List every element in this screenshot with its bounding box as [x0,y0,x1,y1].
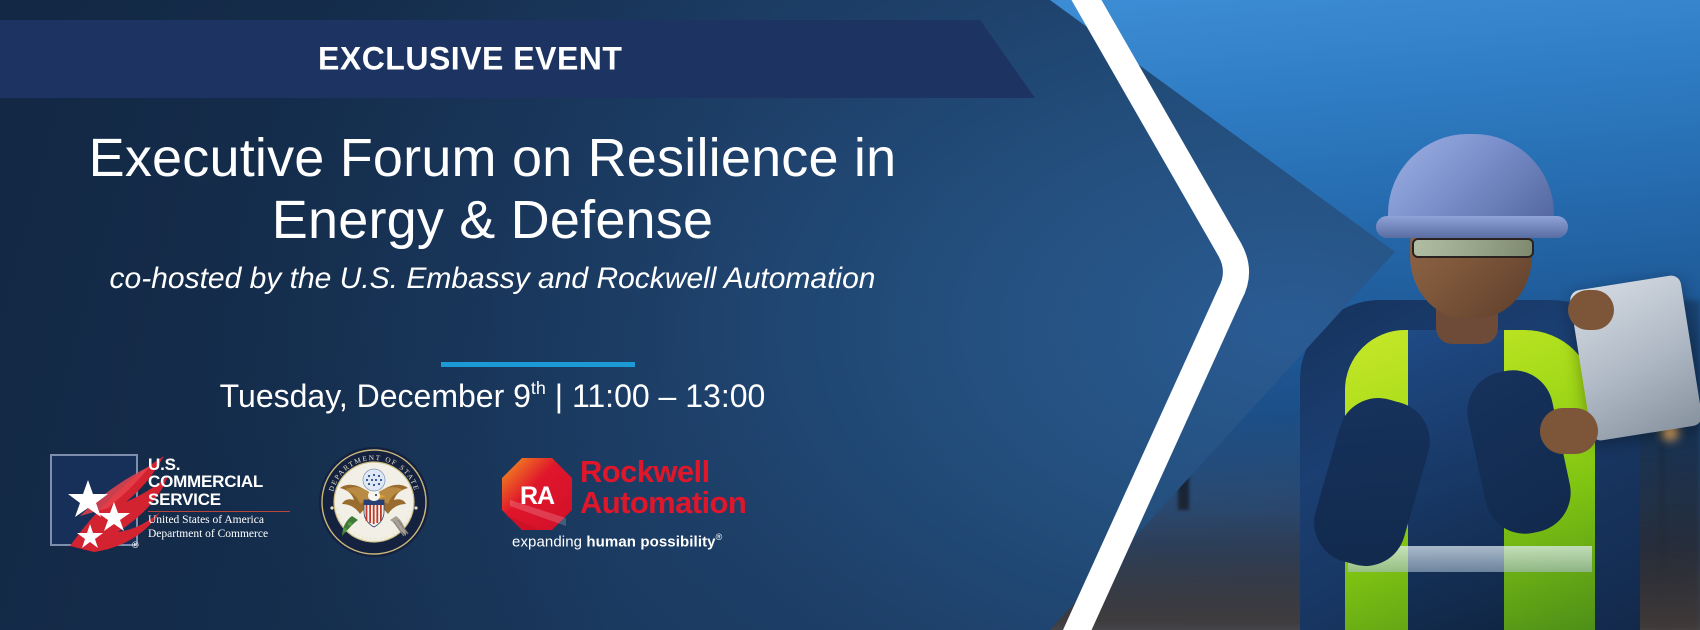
us-commercial-service-logo: U.S. COMMERCIAL SERVICE United States of… [50,448,290,554]
date-ordinal-suffix: th [531,378,546,398]
event-title: Executive Forum on Resilience in Energy … [60,128,925,251]
worker-hand [1568,290,1614,330]
content-block: Executive Forum on Resilience in Energy … [0,0,985,630]
hard-hat-brim [1376,216,1568,238]
rockwell-ra-badge-icon: RA [500,456,574,534]
logo-sub-line1: United States of America [148,514,298,528]
rockwell-wordmark: Rockwell Automation [580,456,746,518]
worker-hand [1540,408,1598,454]
rockwell-tagline: expanding human possibility® [512,532,722,550]
rockwell-name-line2: Automation [580,487,746,518]
event-subtitle: co-hosted by the U.S. Embassy and Rockwe… [60,262,925,296]
tagline-registered-mark: ® [716,532,723,542]
event-time: 11:00 – 13:00 [572,378,765,414]
worker-figure [1240,110,1700,630]
logo-sub-line2: Department of Commerce [148,528,298,542]
event-datetime: Tuesday, December 9th | 11:00 – 13:00 [60,378,925,415]
sponsor-logos: U.S. COMMERCIAL SERVICE United States of… [0,444,985,574]
logo-wordmark: U.S. COMMERCIAL SERVICE United States of… [148,456,298,541]
ra-monogram: RA [520,482,555,510]
accent-divider [441,362,635,367]
safety-glasses [1412,238,1534,258]
logo-name-line1: U.S. [148,456,298,473]
logo-name-line3: SERVICE [148,491,298,508]
tagline-prefix: expanding [512,533,586,550]
logo-name-line2: COMMERCIAL [148,473,298,490]
department-of-state-seal: DEPARTMENT OF STATE UNITED STATES OF AME… [318,446,430,558]
rockwell-name-line1: Rockwell [580,456,746,487]
datetime-separator: | [546,378,572,414]
event-date: Tuesday, December 9 [220,378,531,414]
rockwell-automation-logo: RA Rockwell Automation expanding human p… [500,450,760,560]
event-banner: EXCLUSIVE EVENT Executive Forum on Resil… [0,0,1700,630]
registered-mark: ® [132,540,139,550]
tagline-bold: human possibility [586,533,715,550]
logo-rule [148,511,290,512]
